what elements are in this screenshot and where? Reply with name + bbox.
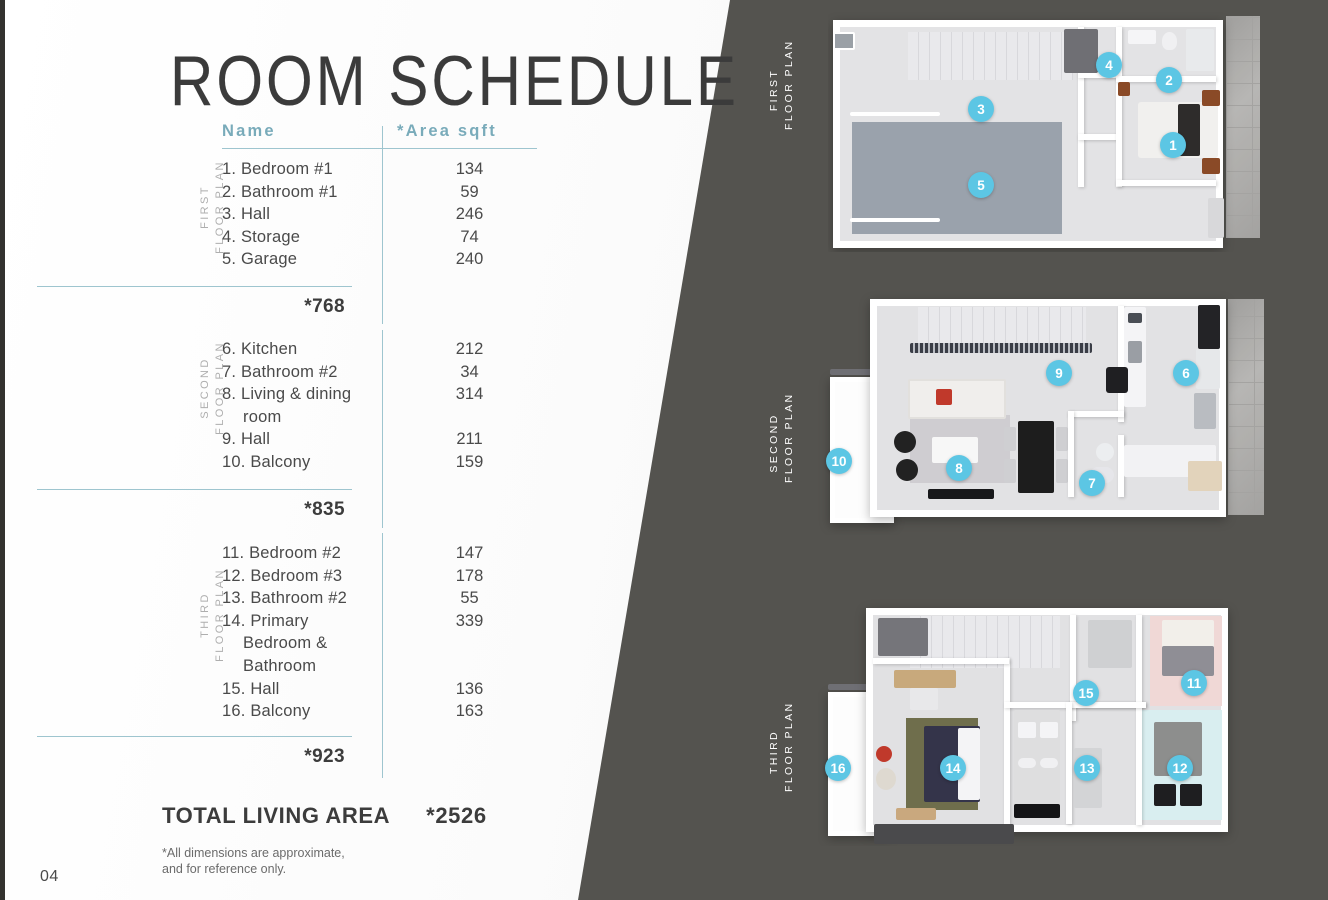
group-label-line1: FIRST: [198, 152, 213, 262]
row-name-line1: 14. Primary: [222, 612, 309, 630]
dining-chair: [1004, 427, 1016, 451]
group-rows-second: 6. Kitchen 212 7. Bathroom #2 34 8. Livi…: [222, 338, 555, 474]
stair-railing: [910, 343, 1092, 353]
plan-marker[interactable]: 7: [1079, 470, 1105, 496]
nightstand: [1202, 158, 1220, 174]
storage-room: [1064, 29, 1098, 73]
table-row: 1. Bedroom #1 134: [222, 158, 555, 181]
marker-number: 1: [1169, 138, 1177, 153]
plan-marker[interactable]: 3: [968, 96, 994, 122]
row-name-line1: 8. Living & dining: [222, 385, 351, 403]
row-area: 314: [402, 383, 537, 406]
table-row: 15. Hall 136: [222, 678, 555, 701]
subtotal-rule-third: [37, 736, 352, 737]
plan-label-line1: FIRST: [767, 50, 782, 130]
marker-number: 10: [831, 454, 846, 469]
subtotal-second: *835: [37, 499, 352, 521]
row-name: 15. Hall: [222, 678, 402, 701]
pantry: [1194, 393, 1216, 429]
dining-chair: [1004, 459, 1016, 483]
plan-marker[interactable]: 13: [1074, 755, 1100, 781]
table-row: 2. Bathroom #1 59: [222, 181, 555, 204]
disclaimer: *All dimensions are approximate, and for…: [162, 845, 345, 877]
group-label-line1: SECOND: [198, 328, 213, 448]
row-name: 16. Balcony: [222, 700, 402, 723]
row-name: 12. Bedroom #3: [222, 565, 402, 588]
table-row: 11. Bedroom #2 147: [222, 542, 555, 565]
group-rows-first: 1. Bedroom #1 134 2. Bathroom #1 59 3. H…: [222, 158, 555, 271]
floorplan-render-third: 11 12 13 14 15 16: [818, 598, 1266, 846]
marker-number: 3: [977, 102, 985, 117]
dining-chair: [1056, 459, 1068, 483]
column-header-name: Name: [222, 122, 276, 141]
plan-label-second: SECOND FLOOR PLAN: [767, 403, 797, 483]
subtotal-first: *768: [37, 296, 352, 318]
row-name: 7. Bathroom #2: [222, 361, 402, 384]
subtotal-rule-second: [37, 489, 352, 490]
marker-number: 6: [1182, 366, 1190, 381]
table-row: 9. Hall 211: [222, 428, 555, 451]
floorplan-render-second: 6 7 8 9 10: [818, 285, 1266, 535]
closet: [878, 618, 928, 656]
subtotal-third: *923: [37, 746, 352, 768]
desk-chair: [910, 688, 938, 710]
plan-marker[interactable]: 10: [826, 448, 852, 474]
interior-wall: [873, 658, 1009, 664]
marker-number: 2: [1165, 73, 1173, 88]
row-name: 8. Living & dining room: [222, 383, 402, 428]
stairs: [908, 32, 1073, 80]
marker-number: 14: [945, 761, 960, 776]
table-row: 13. Bathroom #2 55: [222, 587, 555, 610]
armchair: [894, 431, 916, 453]
plan-label-line1: SECOND: [767, 403, 782, 483]
row-name: 1. Bedroom #1: [222, 158, 402, 181]
plan-marker[interactable]: 1: [1160, 132, 1186, 158]
bath-floor-band: [1014, 804, 1060, 818]
stone-facade-texture: [1228, 299, 1264, 515]
plan-marker[interactable]: 2: [1156, 67, 1182, 93]
interior-wall: [1004, 702, 1146, 708]
total-label: TOTAL LIVING AREA: [162, 803, 390, 829]
tall-cabinet: [1198, 305, 1220, 349]
plan-marker[interactable]: 11: [1181, 670, 1207, 696]
table-row: 8. Living & dining room 314: [222, 383, 555, 428]
marker-number: 12: [1172, 761, 1187, 776]
plan-label-line2: FLOOR PLAN: [782, 403, 797, 483]
table-row: 14. Primary Bedroom & Bathroom 339: [222, 610, 555, 678]
row-name: 6. Kitchen: [222, 338, 402, 361]
garage-door-rail: [850, 218, 940, 222]
plan-marker[interactable]: 14: [940, 755, 966, 781]
room-schedule-page: ROOM SCHEDULE Name *Area sqft FIRST FLOO…: [0, 0, 1328, 900]
group-label-line1: THIRD: [198, 550, 213, 680]
row-name: 3. Hall: [222, 203, 402, 226]
sofa: [908, 379, 1006, 419]
bench: [1188, 461, 1222, 491]
nightstand: [1202, 90, 1220, 106]
accent-table: [876, 768, 896, 790]
plan-label-third: THIRD FLOOR PLAN: [767, 712, 797, 792]
interior-wall: [1068, 411, 1074, 497]
page-number: 04: [40, 868, 59, 886]
mirror: [1040, 722, 1058, 738]
row-area: 147: [402, 542, 537, 565]
row-area: 212: [402, 338, 537, 361]
marker-number: 15: [1078, 686, 1093, 701]
row-area: 34: [402, 361, 537, 384]
tv-console: [928, 489, 994, 499]
row-name: 14. Primary Bedroom & Bathroom: [222, 610, 402, 678]
plan-marker[interactable]: 8: [946, 455, 972, 481]
interior-wall: [1136, 615, 1142, 825]
plan-label-line1: THIRD: [767, 712, 782, 792]
table-row: 3. Hall 246: [222, 203, 555, 226]
page-title: ROOM SCHEDULE: [170, 40, 739, 121]
disclaimer-line1: *All dimensions are approximate,: [162, 845, 345, 861]
group-rows-third: 11. Bedroom #2 147 12. Bedroom #3 178 13…: [222, 542, 555, 723]
sink: [1128, 341, 1142, 363]
stone-facade-texture: [1226, 16, 1260, 238]
schedule-table-headers: Name *Area sqft: [185, 122, 555, 152]
row-area: 136: [402, 678, 537, 701]
interior-wall: [1116, 180, 1216, 186]
entry-steps: [1208, 198, 1224, 238]
garage-door-rail: [850, 112, 940, 116]
group-third-floor: THIRD FLOOR PLAN 11. Bedroom #2 147 12. …: [185, 542, 555, 723]
plan-marker[interactable]: 4: [1096, 52, 1122, 78]
plan-marker[interactable]: 15: [1073, 680, 1099, 706]
plan-marker[interactable]: 5: [968, 172, 994, 198]
lower-terrace: [874, 824, 1014, 844]
header-underline: [222, 148, 537, 149]
disclaimer-line2: and for reference only.: [162, 861, 345, 877]
row-name: 9. Hall: [222, 428, 402, 451]
row-area: 59: [402, 181, 537, 204]
marker-number: 5: [977, 178, 985, 193]
shower: [1186, 29, 1214, 71]
plan-marker[interactable]: 16: [825, 755, 851, 781]
row-area: 246: [402, 203, 537, 226]
sink: [1018, 758, 1036, 768]
row-area: 159: [402, 451, 537, 474]
interior-wall: [1068, 411, 1124, 417]
bathroom-vanity: [1128, 30, 1156, 44]
toilet: [1162, 32, 1177, 50]
marker-number: 8: [955, 461, 963, 476]
chair: [1180, 784, 1202, 806]
interior-wall: [1078, 134, 1118, 140]
bench: [896, 808, 936, 820]
dining-table: [1018, 421, 1054, 493]
plan-label-first: FIRST FLOOR PLAN: [767, 50, 797, 130]
dresser: [894, 670, 956, 688]
stairs: [918, 307, 1086, 347]
total-value: *2526: [426, 803, 487, 829]
powder-sink: [1096, 443, 1114, 461]
table-row: 12. Bedroom #3 178: [222, 565, 555, 588]
marker-number: 9: [1055, 366, 1063, 381]
plan-marker[interactable]: 12: [1167, 755, 1193, 781]
row-name: 5. Garage: [222, 248, 402, 271]
window: [833, 32, 855, 50]
mirror: [1018, 722, 1036, 738]
plan-marker[interactable]: 6: [1173, 360, 1199, 386]
interior-wall: [1116, 27, 1122, 187]
subtotal-rule-first: [37, 286, 352, 287]
floorplan-render-first: 1 2 3 4 5: [828, 12, 1260, 252]
chair: [1154, 784, 1176, 806]
table-row: 6. Kitchen 212: [222, 338, 555, 361]
table-row: 10. Balcony 159: [222, 451, 555, 474]
cushion: [936, 389, 952, 405]
dining-chair: [1056, 427, 1068, 451]
row-area: 55: [402, 587, 537, 610]
row-name: 13. Bathroom #2: [222, 587, 402, 610]
sink: [1040, 758, 1058, 768]
row-area: 211: [402, 428, 537, 451]
linen-closet: [1088, 620, 1132, 668]
column-header-area: *Area sqft: [397, 122, 497, 141]
row-area: 74: [402, 226, 537, 249]
row-area: 240: [402, 248, 537, 271]
row-area: 163: [402, 700, 537, 723]
marker-number: 13: [1079, 761, 1094, 776]
accent-chair: [876, 746, 892, 762]
table-row: 4. Storage 74: [222, 226, 555, 249]
row-name: 4. Storage: [222, 226, 402, 249]
interior-wall: [1066, 702, 1072, 824]
row-name-line2: room: [222, 406, 402, 429]
schedule-column: ROOM SCHEDULE Name *Area sqft FIRST FLOO…: [0, 0, 700, 900]
row-area: 134: [402, 158, 537, 181]
row-name: 2. Bathroom #1: [222, 181, 402, 204]
row-name-line3: Bathroom: [222, 655, 402, 678]
armchair: [896, 459, 918, 481]
plan-marker[interactable]: 9: [1046, 360, 1072, 386]
closet-door: [1118, 82, 1130, 96]
group-second-floor: SECOND FLOOR PLAN 6. Kitchen 212 7. Bath…: [185, 338, 555, 474]
table-row: 5. Garage 240: [222, 248, 555, 271]
marker-number: 7: [1088, 476, 1096, 491]
group-first-floor: FIRST FLOOR PLAN 1. Bedroom #1 134 2. Ba…: [185, 158, 555, 271]
row-name-line2: Bedroom &: [222, 632, 402, 655]
cooktop: [1128, 313, 1142, 323]
row-name: 11. Bedroom #2: [222, 542, 402, 565]
marker-number: 4: [1105, 58, 1113, 73]
row-area: 178: [402, 565, 537, 588]
plan-label-line2: FLOOR PLAN: [782, 712, 797, 792]
row-name: 10. Balcony: [222, 451, 402, 474]
table-row: 7. Bathroom #2 34: [222, 361, 555, 384]
table-row: 16. Balcony 163: [222, 700, 555, 723]
plan-label-line2: FLOOR PLAN: [782, 50, 797, 130]
kitchen-island-stools: [1106, 367, 1128, 393]
marker-number: 11: [1187, 676, 1201, 691]
row-area: 339: [402, 610, 537, 633]
refrigerator: [1196, 349, 1220, 389]
total-living-area-row: TOTAL LIVING AREA *2526: [162, 803, 487, 829]
marker-number: 16: [830, 761, 845, 776]
interior-wall: [1004, 658, 1010, 825]
